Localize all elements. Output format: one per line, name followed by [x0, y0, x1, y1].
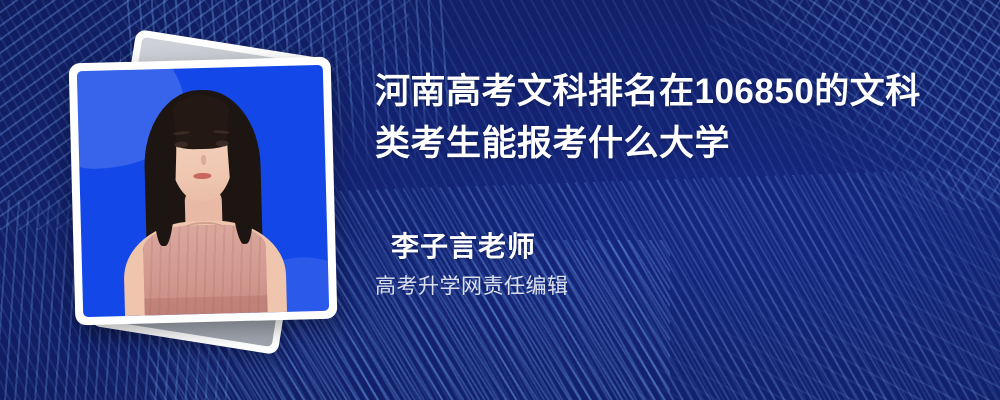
portrait-illustration	[77, 65, 329, 317]
author-block: 李子言老师 高考升学网责任编辑	[375, 228, 975, 302]
page-title: 河南高考文科排名在106850的文科类考生能报考什么大学	[375, 66, 955, 170]
banner-text-column: 河南高考文科排名在106850的文科类考生能报考什么大学 李子言老师 高考升学网…	[375, 0, 975, 400]
author-role: 高考升学网责任编辑	[375, 272, 975, 302]
author-name: 李子言老师	[391, 228, 975, 266]
photo-card-front	[69, 57, 338, 326]
avatar	[77, 65, 329, 317]
article-header-banner: 河南高考文科排名在106850的文科类考生能报考什么大学 李子言老师 高考升学网…	[0, 0, 1000, 400]
photo-card-stack	[0, 0, 360, 400]
portrait-dress-waist	[144, 295, 267, 315]
portrait-collar	[184, 221, 224, 234]
portrait-nose	[201, 155, 207, 165]
